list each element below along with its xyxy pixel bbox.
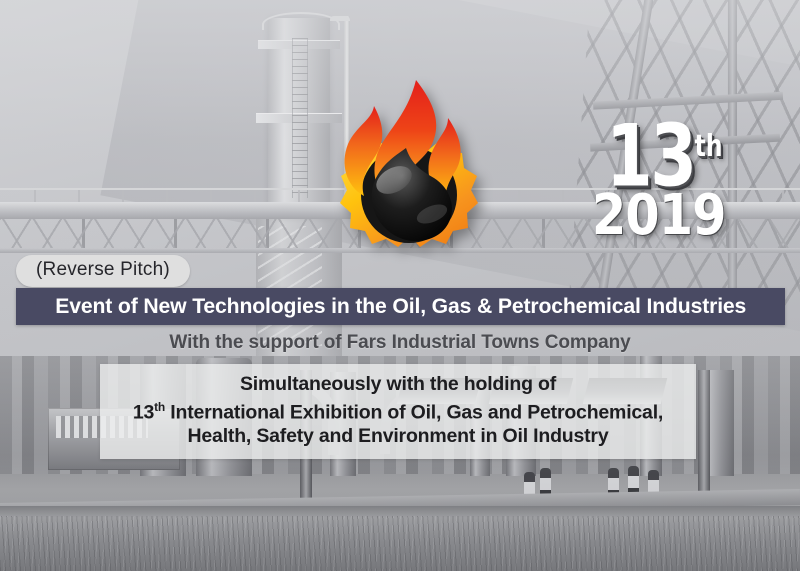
- event-poster: 13th 2019: [0, 0, 800, 571]
- reverse-pitch-badge: (Reverse Pitch): [16, 255, 190, 287]
- headline-banner: Event of New Technologies in the Oil, Ga…: [16, 288, 785, 325]
- info-line-3: Health, Safety and Environment in Oil In…: [100, 425, 696, 448]
- info-line-2-number: 13: [133, 402, 154, 424]
- edition-year: 2019: [592, 188, 698, 244]
- info-line-2: 13th International Exhibition of Oil, Ga…: [100, 396, 696, 425]
- concurrent-event-info-box: Simultaneously with the holding of 13th …: [100, 364, 696, 459]
- headline-text: Event of New Technologies in the Oil, Ga…: [55, 294, 746, 319]
- edition-number-suffix: th: [695, 129, 723, 164]
- info-line-1: Simultaneously with the holding of: [100, 373, 696, 396]
- edition-year-badge: 13th 2019: [592, 104, 752, 244]
- info-line-2-rest: International Exhibition of Oil, Gas and…: [165, 402, 663, 424]
- flame-gear-oil-drop-icon: [320, 62, 500, 292]
- info-line-2-suffix: th: [154, 400, 165, 414]
- support-line: With the support of Fars Industrial Town…: [0, 332, 800, 354]
